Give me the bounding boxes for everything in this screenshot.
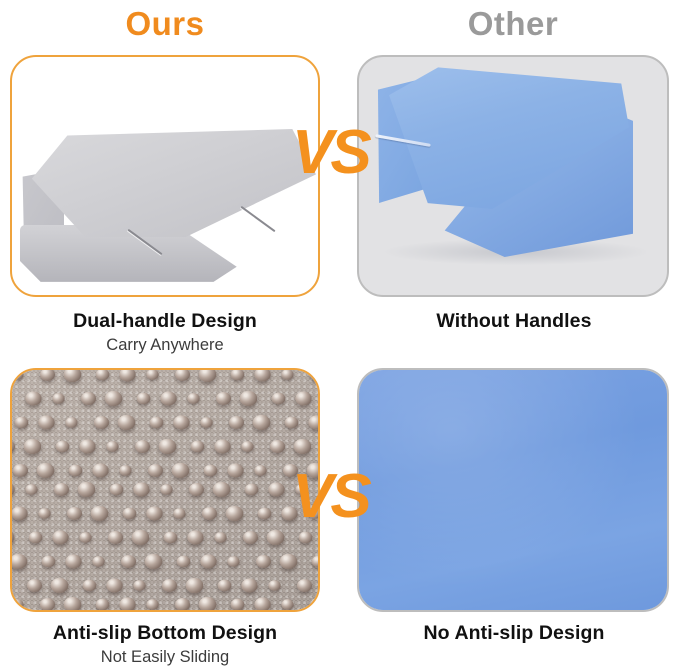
anti-slip-dot — [239, 391, 257, 406]
panel-other-no-anti-slip — [357, 368, 669, 612]
anti-slip-dot — [106, 441, 118, 452]
panel-other-without-handles — [357, 55, 669, 297]
fabric-sheen — [359, 370, 667, 610]
grey-wedge-slope-face — [20, 129, 316, 237]
anti-slip-dot — [69, 465, 83, 477]
anti-slip-dot — [243, 531, 258, 544]
anti-slip-dot — [106, 578, 122, 592]
caption-other-no-anti-slip: No Anti-slip Design — [349, 622, 679, 648]
caption-title: Without Handles — [349, 310, 679, 333]
anti-slip-dot — [297, 579, 312, 592]
anti-slip-dot — [298, 532, 312, 544]
anti-slip-dot — [25, 391, 41, 405]
anti-slip-dot — [212, 482, 230, 497]
anti-slip-dot — [227, 556, 239, 567]
anti-slip-dot — [133, 580, 145, 591]
anti-slip-dot — [40, 368, 55, 381]
anti-slip-dot — [50, 578, 68, 593]
anti-slip-dot — [295, 391, 311, 405]
anti-slip-dot — [79, 532, 91, 543]
anti-slip-dot — [67, 507, 82, 520]
anti-slip-dot — [227, 463, 243, 477]
anti-slip-dot — [177, 556, 191, 568]
anti-slip-dot — [162, 579, 177, 592]
anti-slip-dot — [52, 530, 68, 544]
anti-slip-dot — [10, 554, 27, 569]
anti-slip-dot — [28, 532, 42, 544]
caption-ours-dual-handle: Dual-handle Design Carry Anywhere — [0, 310, 330, 355]
anti-slip-dot — [310, 368, 320, 381]
anti-slip-dot — [163, 532, 177, 544]
anti-slip-dot — [175, 598, 190, 611]
anti-slip-dot — [256, 555, 271, 568]
handle-slot-right — [240, 206, 275, 232]
anti-slip-dot — [254, 368, 270, 382]
anti-slip-dot — [285, 417, 299, 429]
anti-slip-dot — [185, 578, 203, 593]
anti-slip-dot — [241, 578, 257, 592]
anti-slip-dot — [146, 369, 158, 380]
anti-slip-dot — [270, 440, 285, 453]
anti-slip-dot — [81, 392, 96, 405]
anti-slip-dot — [214, 439, 230, 453]
anti-slip-dot — [199, 368, 217, 382]
anti-slip-dot — [92, 556, 104, 567]
anti-slip-dot — [64, 597, 82, 612]
anti-slip-dot — [217, 580, 231, 592]
vs-badge-top: VS — [292, 122, 369, 184]
anti-slip-dot — [175, 368, 190, 381]
caption-subtitle: Not Easily Sliding — [0, 648, 330, 667]
anti-slip-dot — [52, 393, 64, 404]
anti-slip-dot — [37, 463, 55, 478]
anti-slip-dot — [108, 531, 123, 544]
anti-slip-dot — [11, 369, 23, 380]
anti-slip-dot — [199, 597, 217, 612]
caption-other-without-handles: Without Handles — [349, 310, 679, 336]
anti-slip-dot — [118, 415, 136, 430]
grey-wedge-pillow-image — [20, 129, 316, 279]
anti-slip-dot — [244, 484, 258, 496]
anti-slip-dot — [146, 599, 158, 610]
caption-title: Anti-slip Bottom Design — [0, 622, 330, 645]
caption-ours-anti-slip: Anti-slip Bottom Design Not Easily Slidi… — [0, 622, 330, 667]
anti-slip-dot — [131, 530, 149, 545]
anti-slip-dot — [202, 507, 217, 520]
anti-slip-dot — [254, 465, 266, 476]
anti-slip-dot — [109, 484, 123, 496]
anti-slip-dot — [96, 369, 110, 381]
anti-slip-dot — [189, 483, 204, 496]
anti-slip-dot — [10, 530, 14, 545]
plain-blue-fabric — [359, 370, 667, 610]
anti-slip-dot — [160, 484, 172, 495]
panel-ours-anti-slip — [10, 368, 320, 612]
anti-slip-dot — [253, 415, 271, 430]
caption-title: Dual-handle Design — [0, 310, 330, 333]
anti-slip-dot — [133, 482, 149, 496]
anti-slip-dot — [27, 579, 42, 592]
anti-slip-dot — [121, 555, 136, 568]
anti-slip-dot — [281, 599, 293, 610]
anti-slip-dot — [172, 463, 190, 478]
anti-slip-dot — [77, 482, 95, 497]
anti-slip-dot — [312, 556, 320, 568]
anti-slip-dot — [96, 599, 110, 611]
anti-slip-dot — [23, 439, 41, 454]
anti-slip-dot — [13, 464, 28, 477]
anti-slip-dot — [94, 416, 109, 429]
anti-slip-dot — [281, 369, 293, 380]
anti-slip-dot — [310, 598, 320, 611]
anti-slip-dot — [216, 392, 231, 405]
anti-slip-dot — [146, 506, 162, 520]
anti-slip-dot — [231, 369, 245, 381]
anti-slip-dot — [187, 530, 203, 544]
anti-slip-dot — [119, 465, 131, 476]
anti-slip-dot — [280, 554, 298, 569]
anti-slip-dot — [150, 417, 164, 429]
header-other: Other — [357, 0, 669, 48]
caption-title: No Anti-slip Design — [349, 622, 679, 645]
anti-slip-dot — [104, 391, 122, 406]
anti-slip-dot — [271, 393, 285, 405]
anti-slip-dot — [135, 440, 150, 453]
anti-slip-dot — [160, 391, 176, 405]
anti-slip-dot — [55, 441, 69, 453]
anti-slip-dot — [136, 393, 150, 405]
anti-slip-dot — [38, 508, 50, 519]
anti-slip-dot — [92, 463, 108, 477]
anti-slip-dot — [54, 483, 69, 496]
anti-slip-dot — [25, 484, 37, 495]
anti-slip-dot — [11, 506, 27, 520]
anti-slip-dot — [200, 417, 212, 428]
anti-slip-dot — [64, 368, 82, 382]
anti-slip-dot — [119, 597, 135, 611]
anti-slip-dot — [123, 508, 137, 520]
anti-slip-dot — [65, 417, 77, 428]
anti-slip-dot — [10, 482, 14, 496]
anti-slip-dot — [79, 439, 95, 453]
anti-slip-dot — [266, 530, 284, 545]
anti-slip-dot — [293, 439, 311, 454]
header-ours: Ours — [10, 0, 320, 48]
anti-slip-dot — [82, 580, 96, 592]
panel-ours-dual-handle — [10, 55, 320, 297]
anti-slip-dot — [10, 440, 15, 453]
vs-badge-bottom: VS — [292, 466, 369, 528]
anti-slip-dot — [308, 415, 320, 429]
anti-slip-dot — [254, 597, 270, 611]
anti-slip-dot — [241, 441, 253, 452]
anti-slip-dot — [11, 599, 23, 610]
anti-slip-dot — [158, 439, 176, 454]
anti-slip-dot — [258, 508, 272, 520]
anti-slip-dot — [229, 416, 244, 429]
anti-slip-dot-grid — [12, 370, 318, 610]
anti-slip-dot — [119, 368, 135, 382]
comparison-infographic: Ours Other VS VS — [0, 0, 679, 672]
anti-slip-dot — [148, 464, 163, 477]
anti-slip-dot — [38, 415, 54, 429]
anti-slip-dot — [204, 465, 218, 477]
anti-slip-dot — [40, 598, 55, 611]
anti-slip-dot — [145, 554, 163, 569]
anti-slip-dot — [65, 554, 81, 568]
anti-slip-dot — [15, 417, 29, 429]
anti-slip-dot — [190, 441, 204, 453]
anti-slip-dot — [173, 415, 189, 429]
anti-slip-dot — [187, 393, 199, 404]
anti-slip-dot — [42, 556, 56, 568]
caption-subtitle: Carry Anywhere — [0, 336, 330, 355]
anti-slip-dot — [91, 506, 109, 521]
anti-slip-dot — [173, 508, 185, 519]
anti-slip-dot — [226, 506, 244, 521]
anti-slip-dot — [214, 532, 226, 543]
anti-slip-dot — [268, 482, 284, 496]
anti-slip-dot — [200, 554, 216, 568]
anti-slip-dot — [268, 580, 280, 591]
anti-slip-dot — [231, 599, 245, 611]
blue-wedge-pillow-image — [371, 63, 661, 259]
